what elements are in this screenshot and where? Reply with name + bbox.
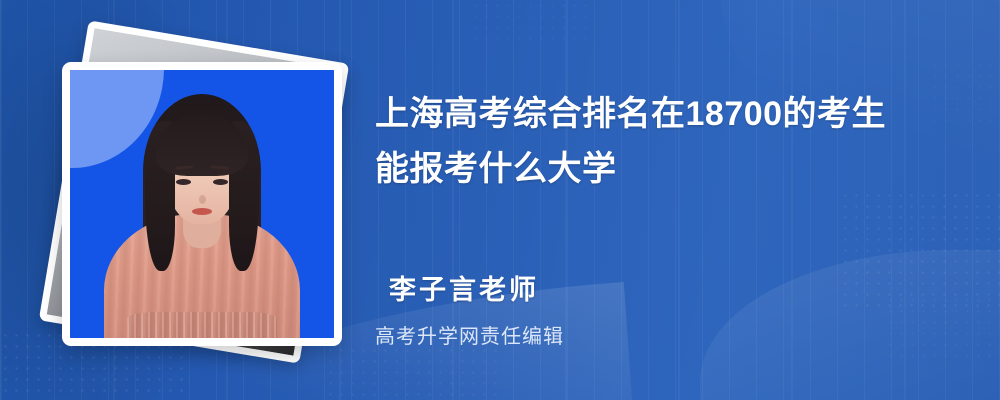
author-name: 李子言老师 — [389, 268, 539, 307]
portrait-dress-waist — [127, 312, 277, 346]
headline-line-1: 上海高考综合排名在18700的考生 — [375, 87, 975, 142]
author-photo-stack — [40, 34, 360, 369]
banner-headline: 上海高考综合排名在18700的考生 能报考什么大学 — [375, 87, 975, 197]
headline-line-2: 能报考什么大学 — [375, 142, 975, 197]
portrait-eye-right — [213, 179, 228, 185]
author-photo-card — [62, 62, 342, 346]
portrait-lips — [192, 208, 212, 215]
author-role: 高考升学网责任编辑 — [375, 320, 564, 349]
portrait-nose — [199, 195, 206, 204]
portrait-eye-left — [176, 179, 191, 185]
author-portrait — [70, 70, 334, 338]
banner-text-column: 上海高考综合排名在18700的考生 能报考什么大学 李子言老师 高考升学网责任编… — [375, 0, 1000, 400]
author-banner: 上海高考综合排名在18700的考生 能报考什么大学 李子言老师 高考升学网责任编… — [0, 0, 1000, 400]
